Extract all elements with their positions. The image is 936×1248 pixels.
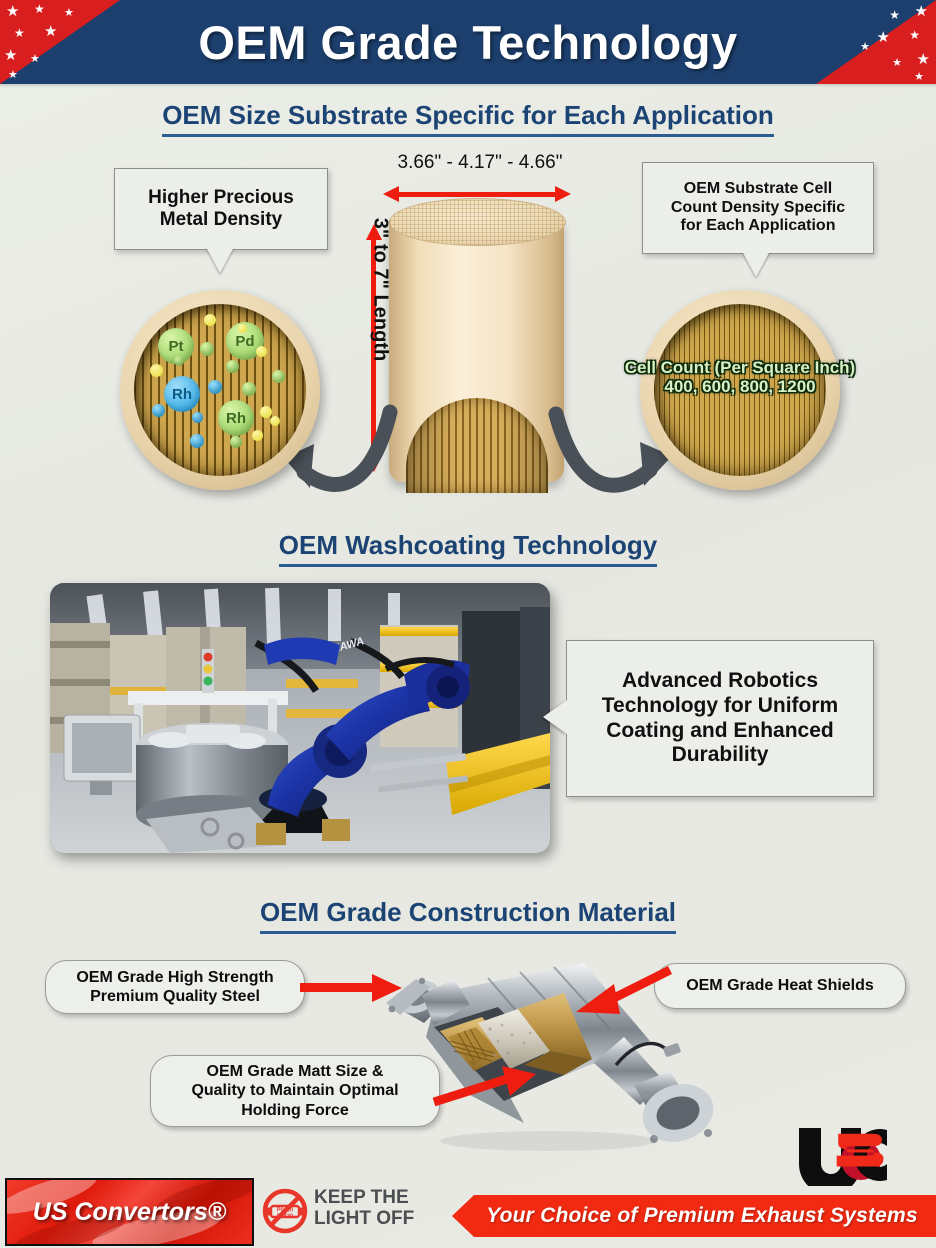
- arrow-steel: [300, 972, 402, 1004]
- tagline-text: Your Choice of Premium Exhaust Systems: [470, 1204, 918, 1228]
- header-divider: [0, 84, 936, 88]
- callout-matt-size: OEM Grade Matt Size & Quality to Maintai…: [150, 1055, 440, 1127]
- callout-line: OEM Grade Heat Shields: [686, 976, 874, 995]
- arrow-matt: [432, 1066, 540, 1108]
- section-heading-size: OEM Size Substrate Specific for Each App…: [0, 100, 936, 137]
- callout-advanced-robotics: Advanced Robotics Technology for Uniform…: [566, 640, 874, 797]
- callout-line: Metal Density: [148, 209, 294, 231]
- us-convertors-logo: US Convertors®: [5, 1178, 254, 1246]
- particle-dot: [152, 404, 165, 417]
- cell-count-line: Cell Count (Per Square Inch): [590, 358, 890, 377]
- poster-page: ★ ★ ★ ★ ★ ★ ★ ★ OEM Grade Technology ★ ★…: [0, 0, 936, 1248]
- particle-dot: [238, 324, 247, 333]
- callout-line: Premium Quality Steel: [76, 987, 273, 1006]
- metal-bubble-rh-blue: Rh: [164, 376, 200, 412]
- callout-line: Count Density Specific: [671, 199, 845, 218]
- callout-line: Technology for Uniform: [602, 694, 838, 719]
- brand-name: US Convertors®: [7, 1180, 252, 1244]
- dtc-code-2: P0430: [277, 1214, 293, 1220]
- particle-dot: [270, 416, 280, 426]
- tagline-banner: Your Choice of Premium Exhaust Systems: [452, 1195, 936, 1237]
- particle-dot: [200, 342, 214, 356]
- callout-substrate-cell-count: OEM Substrate Cell Count Density Specifi…: [642, 162, 874, 254]
- usc-logo: [795, 1124, 923, 1186]
- callout-heat-shields: OEM Grade Heat Shields: [654, 963, 906, 1009]
- particle-dot: [150, 364, 163, 377]
- substrate-cylinder: [389, 198, 564, 493]
- callout-line: Durability: [602, 743, 838, 768]
- section-heading-washcoating: OEM Washcoating Technology: [0, 530, 936, 567]
- particle-dot: [226, 360, 239, 373]
- keep-the-light-off-badge: P0420 P0430 KEEP THE LIGHT OFF: [262, 1182, 442, 1240]
- particle-dot: [260, 406, 272, 418]
- particle-dot: [256, 346, 267, 357]
- callout-tail-down: [206, 247, 234, 273]
- callout-line: OEM Grade High Strength: [76, 968, 273, 987]
- callout-line: OEM Substrate Cell: [671, 180, 845, 199]
- washcoating-robot-photo: YASKAWA: [50, 583, 550, 853]
- callout-line: Quality to Maintain Optimal: [191, 1081, 398, 1100]
- page-title: OEM Grade Technology: [0, 0, 936, 84]
- particle-dot: [190, 434, 204, 448]
- keep-line: KEEP THE: [314, 1188, 414, 1209]
- particle-dot: [242, 382, 256, 396]
- no-symbol-icon: P0420 P0430: [262, 1188, 308, 1234]
- cell-count-overlay: Cell Count (Per Square Inch) 400, 600, 8…: [590, 358, 890, 396]
- cell-count-values: 400, 600, 800, 1200: [590, 377, 890, 396]
- particle-dot: [192, 412, 203, 423]
- callout-line: Advanced Robotics: [602, 669, 838, 694]
- substrate-disc-precious-metals: Pt Pd Rh Rh: [120, 290, 320, 490]
- callout-line: Higher Precious: [148, 187, 294, 209]
- poster-header: ★ ★ ★ ★ ★ ★ ★ ★ OEM Grade Technology ★ ★…: [0, 0, 936, 84]
- keep-light-off-text: KEEP THE LIGHT OFF: [314, 1188, 414, 1229]
- callout-line: for Each Application: [671, 217, 845, 236]
- callout-tail-left: [543, 700, 567, 734]
- diameter-label: 3.66" - 4.17" - 4.66": [340, 152, 620, 174]
- particle-dot: [174, 356, 184, 366]
- particle-dot: [204, 314, 216, 326]
- particle-dot: [230, 436, 242, 448]
- particle-dot: [252, 430, 263, 441]
- particle-dot: [208, 380, 222, 394]
- callout-tail-down: [742, 251, 770, 277]
- particle-dot: [272, 370, 285, 383]
- keep-line: LIGHT OFF: [314, 1209, 414, 1230]
- arrow-heat-shield: [576, 962, 672, 1020]
- callout-higher-precious-metal-density: Higher Precious Metal Density: [114, 168, 328, 250]
- callout-line: Holding Force: [191, 1101, 398, 1120]
- callout-line: Coating and Enhanced: [602, 719, 838, 744]
- metal-bubble-rh-green: Rh: [218, 400, 254, 436]
- section-heading-construction: OEM Grade Construction Material: [0, 897, 936, 934]
- callout-line: OEM Grade Matt Size &: [191, 1062, 398, 1081]
- callout-premium-steel: OEM Grade High Strength Premium Quality …: [45, 960, 305, 1014]
